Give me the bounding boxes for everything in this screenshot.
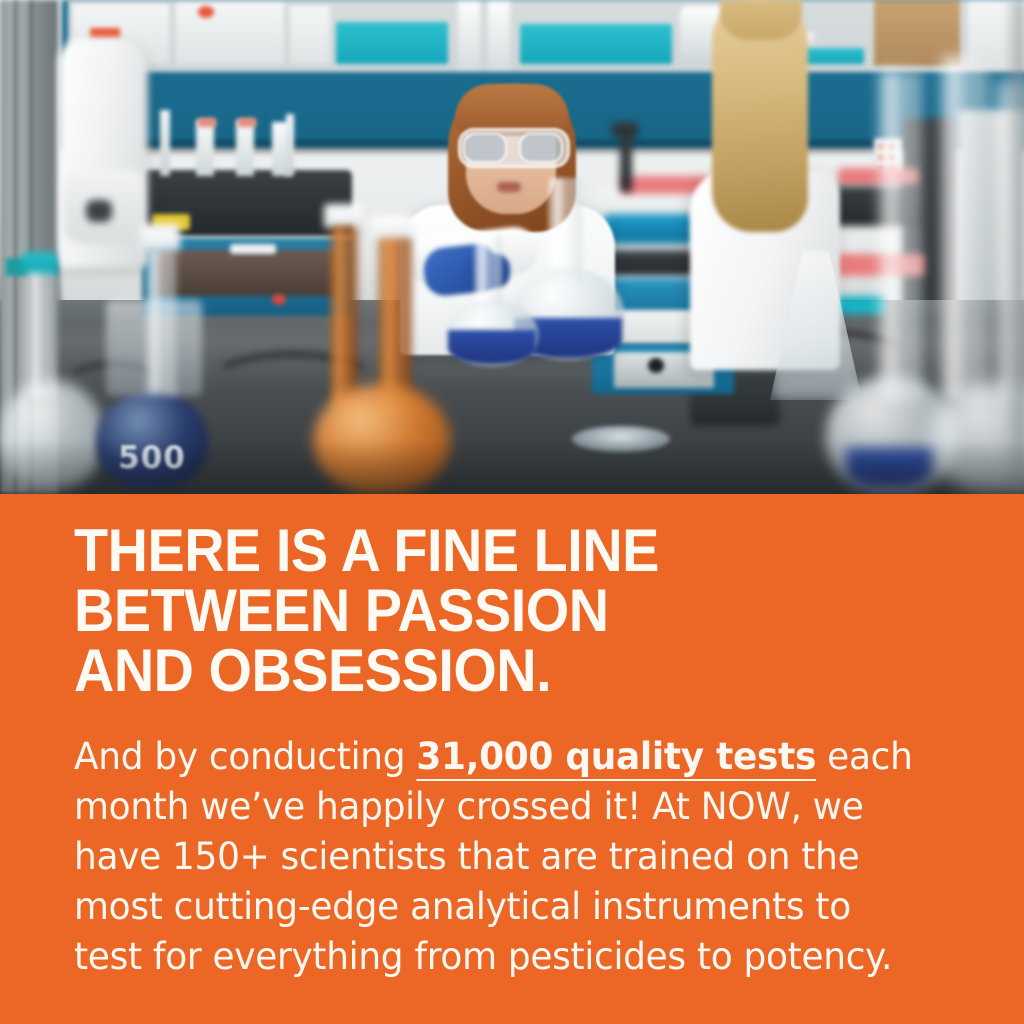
orange-text-panel: THERE IS A FINE LINE BETWEEN PASSION AND… <box>0 494 1024 1024</box>
vial-a <box>160 110 170 176</box>
photo-bottom-vignette <box>0 440 1024 494</box>
analyzer-led <box>272 294 286 305</box>
stand-clamp <box>612 122 638 136</box>
flask-right-b-neck <box>940 56 988 402</box>
reagent-bottle-left <box>106 300 202 396</box>
body-text-part1: And by conducting <box>74 735 416 778</box>
photo-right-edge <box>1004 0 1024 494</box>
goggles-lens-left <box>463 133 507 163</box>
promo-poster: 500 THERE IS A FINE LINE BETWEEN PASSION… <box>0 0 1024 1024</box>
flask-500-cap <box>140 224 180 250</box>
balance-knob <box>648 358 664 373</box>
goggles-lens-right <box>519 133 563 163</box>
analyzer-strip <box>230 244 276 254</box>
page-title: THERE IS A FINE LINE BETWEEN PASSION AND… <box>74 521 892 701</box>
cabinet-shelf <box>68 0 1024 72</box>
vial-c <box>236 120 254 176</box>
vial-e <box>286 114 294 176</box>
body-paragraph: And by conducting 31,000 quality tests e… <box>74 732 928 982</box>
scientist-right-hair-top <box>720 0 802 40</box>
vial-b <box>196 120 214 176</box>
scientist-left-hand <box>86 200 112 222</box>
flask-right-a-neck <box>878 70 922 400</box>
amber-flask-a-neck <box>330 226 358 408</box>
instrument-logo-panel <box>604 214 694 244</box>
scientist-center-mouth <box>497 182 521 192</box>
analyzer-screen <box>156 250 338 296</box>
bottle-cap-teal-left <box>22 252 56 274</box>
quality-tests-highlight: 31,000 quality tests <box>416 735 816 781</box>
stand-rod <box>620 128 632 192</box>
vial-c-cap <box>238 118 256 127</box>
flask-small-liquid <box>448 330 536 364</box>
vial-b-cap <box>198 118 216 127</box>
amber-flask-a-cap <box>324 204 362 228</box>
lab-photo: 500 <box>0 0 1024 494</box>
